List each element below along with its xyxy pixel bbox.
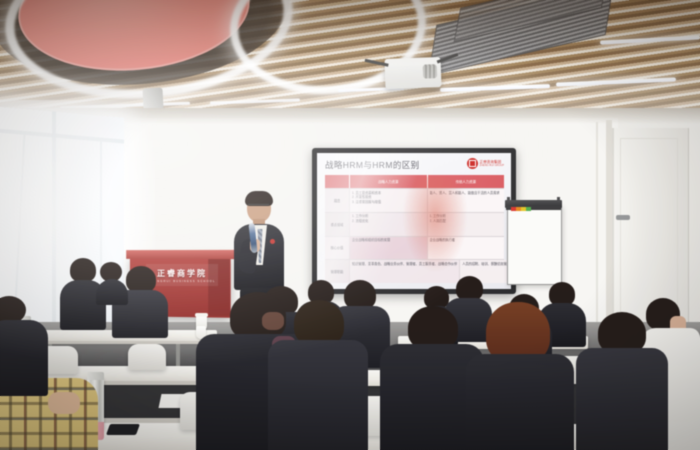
thermos-cap	[87, 372, 104, 380]
slide-logo-badge-icon	[467, 158, 478, 169]
row-label: 观念	[325, 189, 350, 212]
slide-content: 战略HRM与HRM的区别 正睿咨询集团 ZHENG RUI GROUP 战略人力…	[317, 153, 511, 289]
slide-logo-text-en: ZHENG RUI GROUP	[480, 164, 505, 167]
speaker-reflection-on-screen	[402, 177, 468, 272]
attendee-suit	[96, 279, 128, 305]
slide-title: 战略HRM与HRM的区别	[325, 159, 420, 171]
slide-corporate-logo: 正睿咨询集团 ZHENG RUI GROUP	[467, 158, 505, 169]
attendee-foreground	[466, 302, 574, 450]
attendee-head	[126, 266, 156, 293]
lectern-top	[126, 250, 235, 259]
row-label: 重点领域	[325, 213, 350, 236]
whiteboard-surface[interactable]	[507, 205, 562, 285]
speaker-lapel-badge	[270, 239, 275, 244]
attendee-suit	[268, 340, 368, 450]
presentation-display: 战略HRM与HRM的区别 正睿咨询集团 ZHENG RUI GROUP 战略人力…	[312, 148, 516, 294]
photograph-scene: 战略HRM与HRM的区别 正睿咨询集团 ZHENG RUI GROUP 战略人力…	[0, 0, 700, 450]
flipchart-easel	[505, 197, 561, 283]
attendee-foreground	[268, 300, 368, 450]
row-label: 核心价值	[325, 237, 350, 260]
table-leg	[176, 344, 180, 366]
chair[interactable]	[128, 344, 166, 370]
attendee-foreground	[576, 312, 668, 450]
attendee-plaid-hand	[48, 392, 80, 414]
attendee	[96, 262, 128, 302]
attendee-suit	[0, 320, 48, 396]
attendee-suit	[576, 348, 668, 450]
header-cell-blank	[325, 175, 350, 188]
smartphone[interactable]	[106, 424, 140, 435]
marker-green-icon[interactable]	[526, 207, 531, 211]
door-handle[interactable]	[616, 215, 630, 220]
attendee-foreground-left	[0, 296, 48, 396]
wall-seam	[596, 122, 598, 327]
attendee-suit	[466, 354, 574, 450]
attendee-head	[70, 258, 96, 282]
speaker-glasses-icon	[248, 204, 269, 209]
